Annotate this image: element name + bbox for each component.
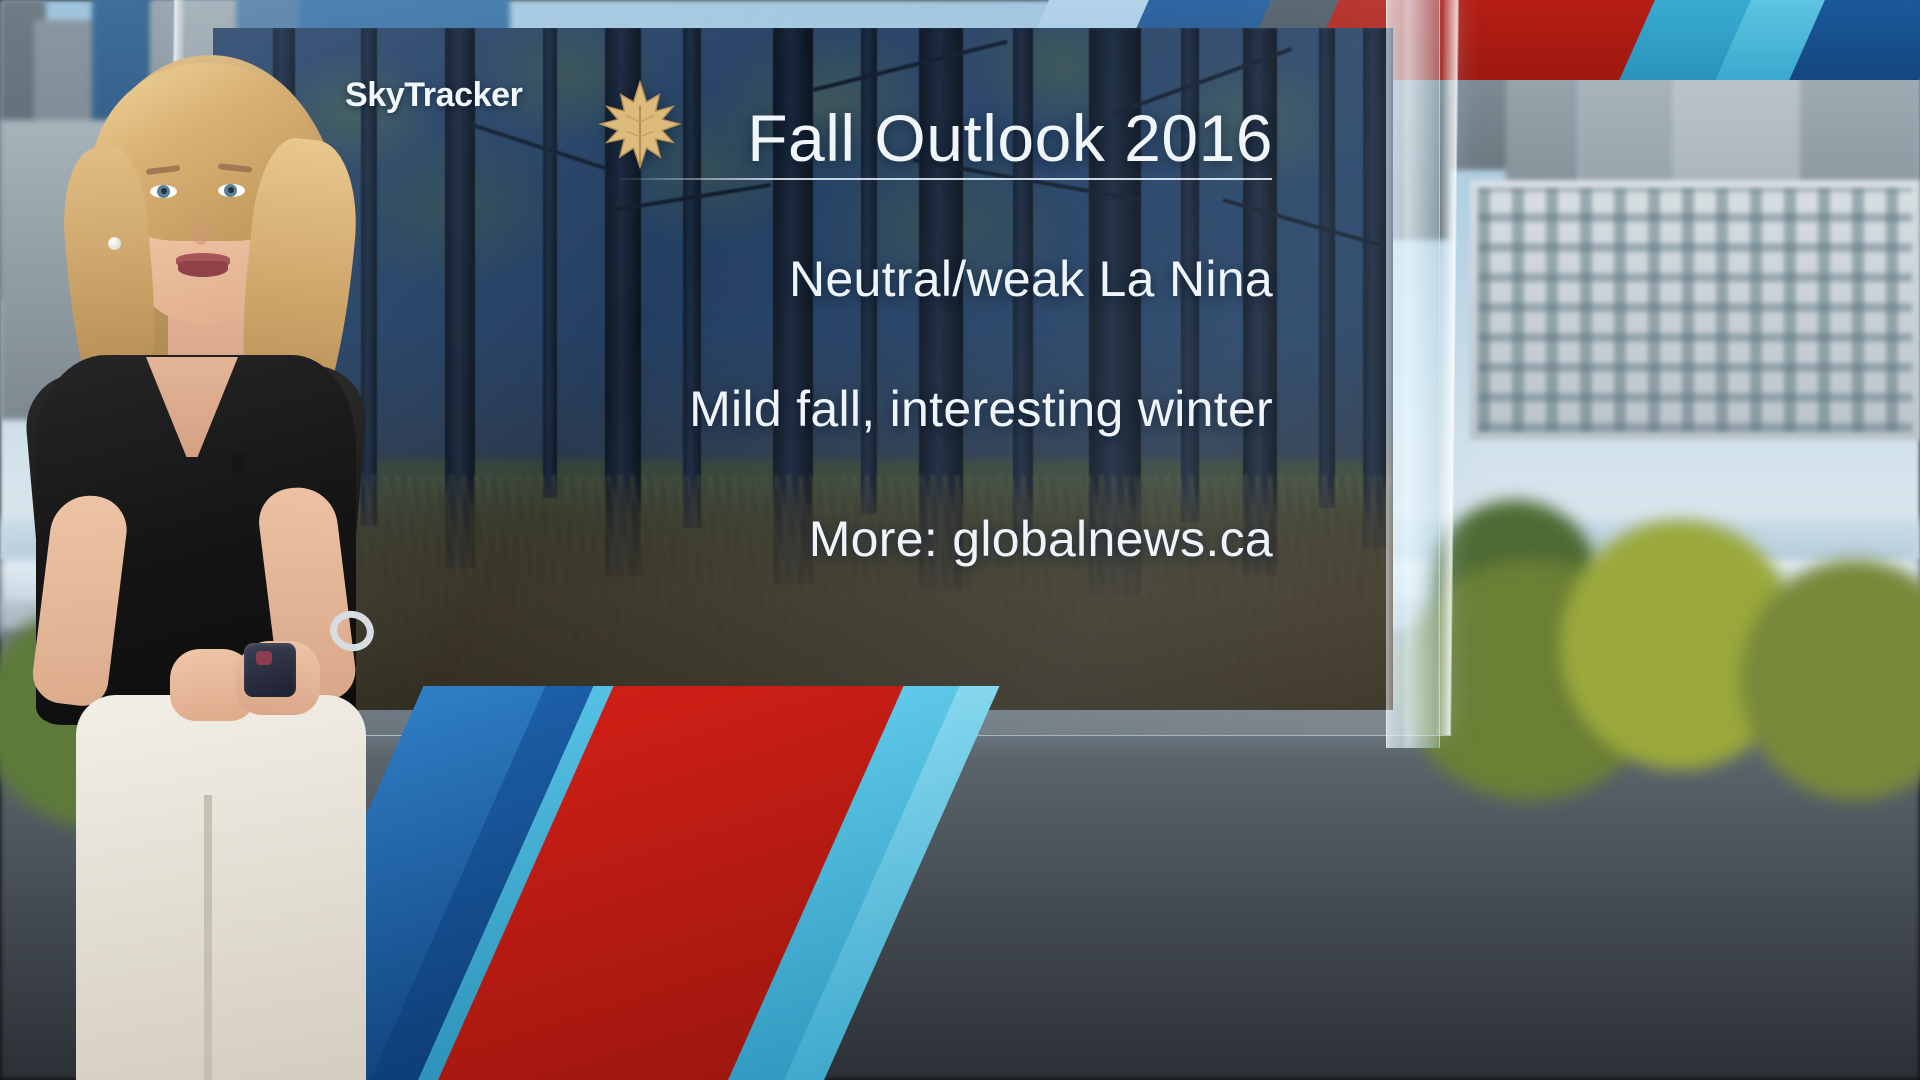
presenter-nose [190, 207, 212, 245]
broadcast-stage: SkyTracker Fall Outlook 2016 Neutral/wea… [0, 0, 1920, 1080]
presenter-pupil [228, 187, 234, 193]
presenter-pupil [161, 188, 167, 194]
presenter-earring [108, 237, 121, 250]
presenter-trousers [76, 695, 366, 1080]
presenter-lapel-mic [232, 453, 244, 473]
skyline-hotel-building [1470, 180, 1920, 440]
title-underline-rule [620, 178, 1272, 180]
presenter-clicker-button [256, 651, 272, 665]
presenter-lip-lower [178, 261, 228, 277]
glass-panel-front-edge [1386, 0, 1400, 748]
presenter-meteorologist [0, 55, 420, 1080]
